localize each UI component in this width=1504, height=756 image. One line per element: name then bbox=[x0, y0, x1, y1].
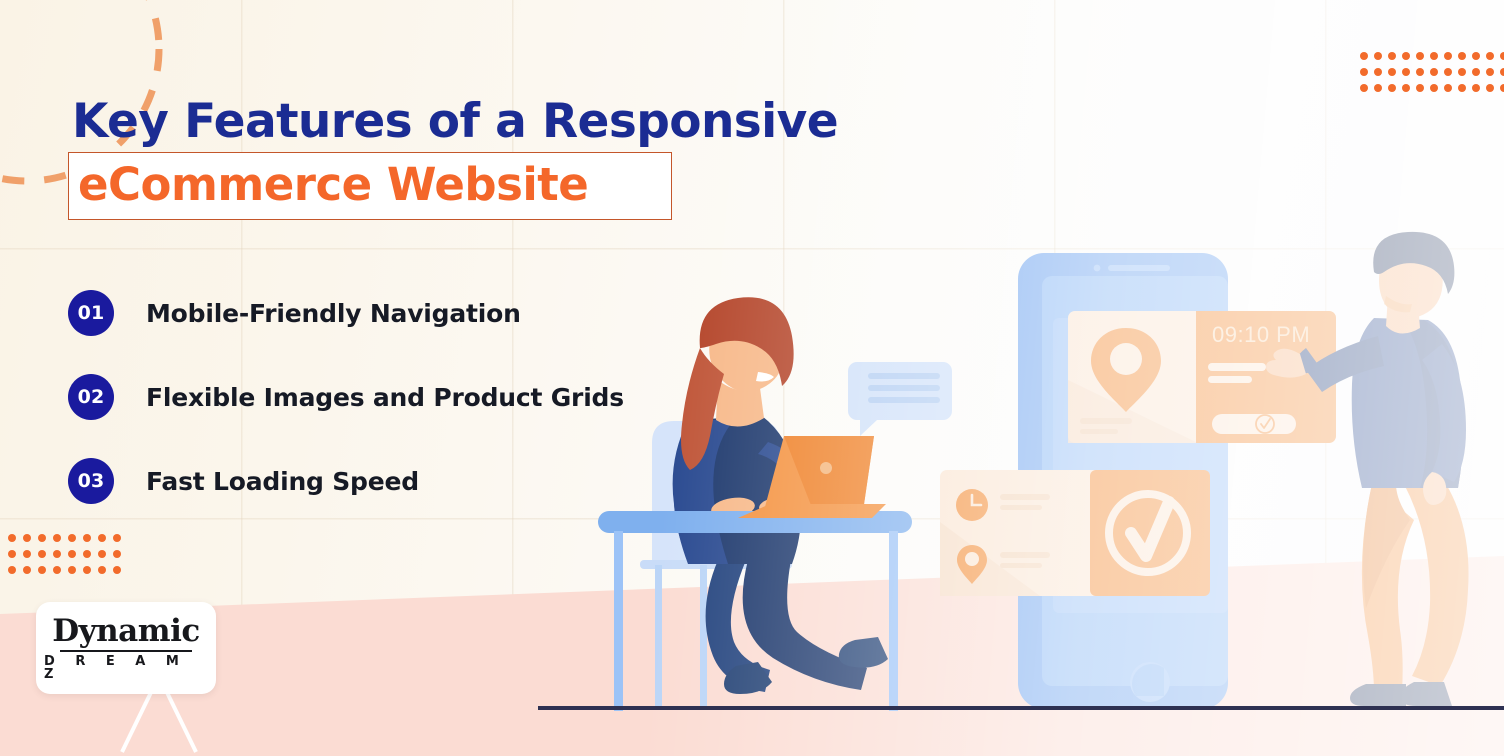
clock-icon bbox=[956, 489, 988, 521]
phone-card-time: 09:10 PM bbox=[1212, 322, 1310, 348]
check-circle-icon bbox=[1109, 494, 1187, 572]
logo[interactable]: Dynamic D R E A M Z bbox=[36, 602, 216, 694]
logo-tagline: D R E A M Z bbox=[36, 655, 216, 681]
infographic-banner: Key Features of a Responsive eCommerce W… bbox=[0, 0, 1504, 756]
location-pin-icon bbox=[1091, 328, 1161, 412]
logo-wordmark: Dynamic bbox=[52, 616, 199, 647]
feature-list: 01 Mobile-Friendly Navigation 02 Flexibl… bbox=[68, 290, 624, 542]
feature-number-badge: 01 bbox=[68, 290, 114, 336]
phone-device bbox=[1018, 253, 1228, 709]
card-checklist bbox=[940, 470, 1210, 596]
chair bbox=[640, 421, 792, 710]
list-item: 01 Mobile-Friendly Navigation bbox=[68, 290, 624, 336]
feature-number-badge: 03 bbox=[68, 458, 114, 504]
chat-bubble-icon bbox=[848, 362, 952, 436]
feature-label: Mobile-Friendly Navigation bbox=[146, 299, 521, 328]
list-item: 03 Fast Loading Speed bbox=[68, 458, 624, 504]
feature-label: Flexible Images and Product Grids bbox=[146, 383, 624, 412]
check-circle-small-icon bbox=[1256, 415, 1274, 433]
person-with-laptop bbox=[673, 297, 888, 694]
desk bbox=[598, 511, 912, 711]
laptop bbox=[738, 436, 886, 518]
ground-line bbox=[538, 706, 1504, 710]
list-item: 02 Flexible Images and Product Grids bbox=[68, 374, 624, 420]
feature-number-badge: 02 bbox=[68, 374, 114, 420]
feature-label: Fast Loading Speed bbox=[146, 467, 419, 496]
location-pin-small-icon bbox=[957, 545, 987, 584]
person-standing bbox=[1266, 232, 1469, 706]
page-title: Key Features of a Responsive bbox=[72, 94, 838, 149]
page-subtitle: eCommerce Website bbox=[78, 158, 588, 211]
logo-divider bbox=[60, 650, 192, 652]
dot-pattern-top-right bbox=[1360, 52, 1504, 98]
floor-shape bbox=[0, 556, 1504, 756]
